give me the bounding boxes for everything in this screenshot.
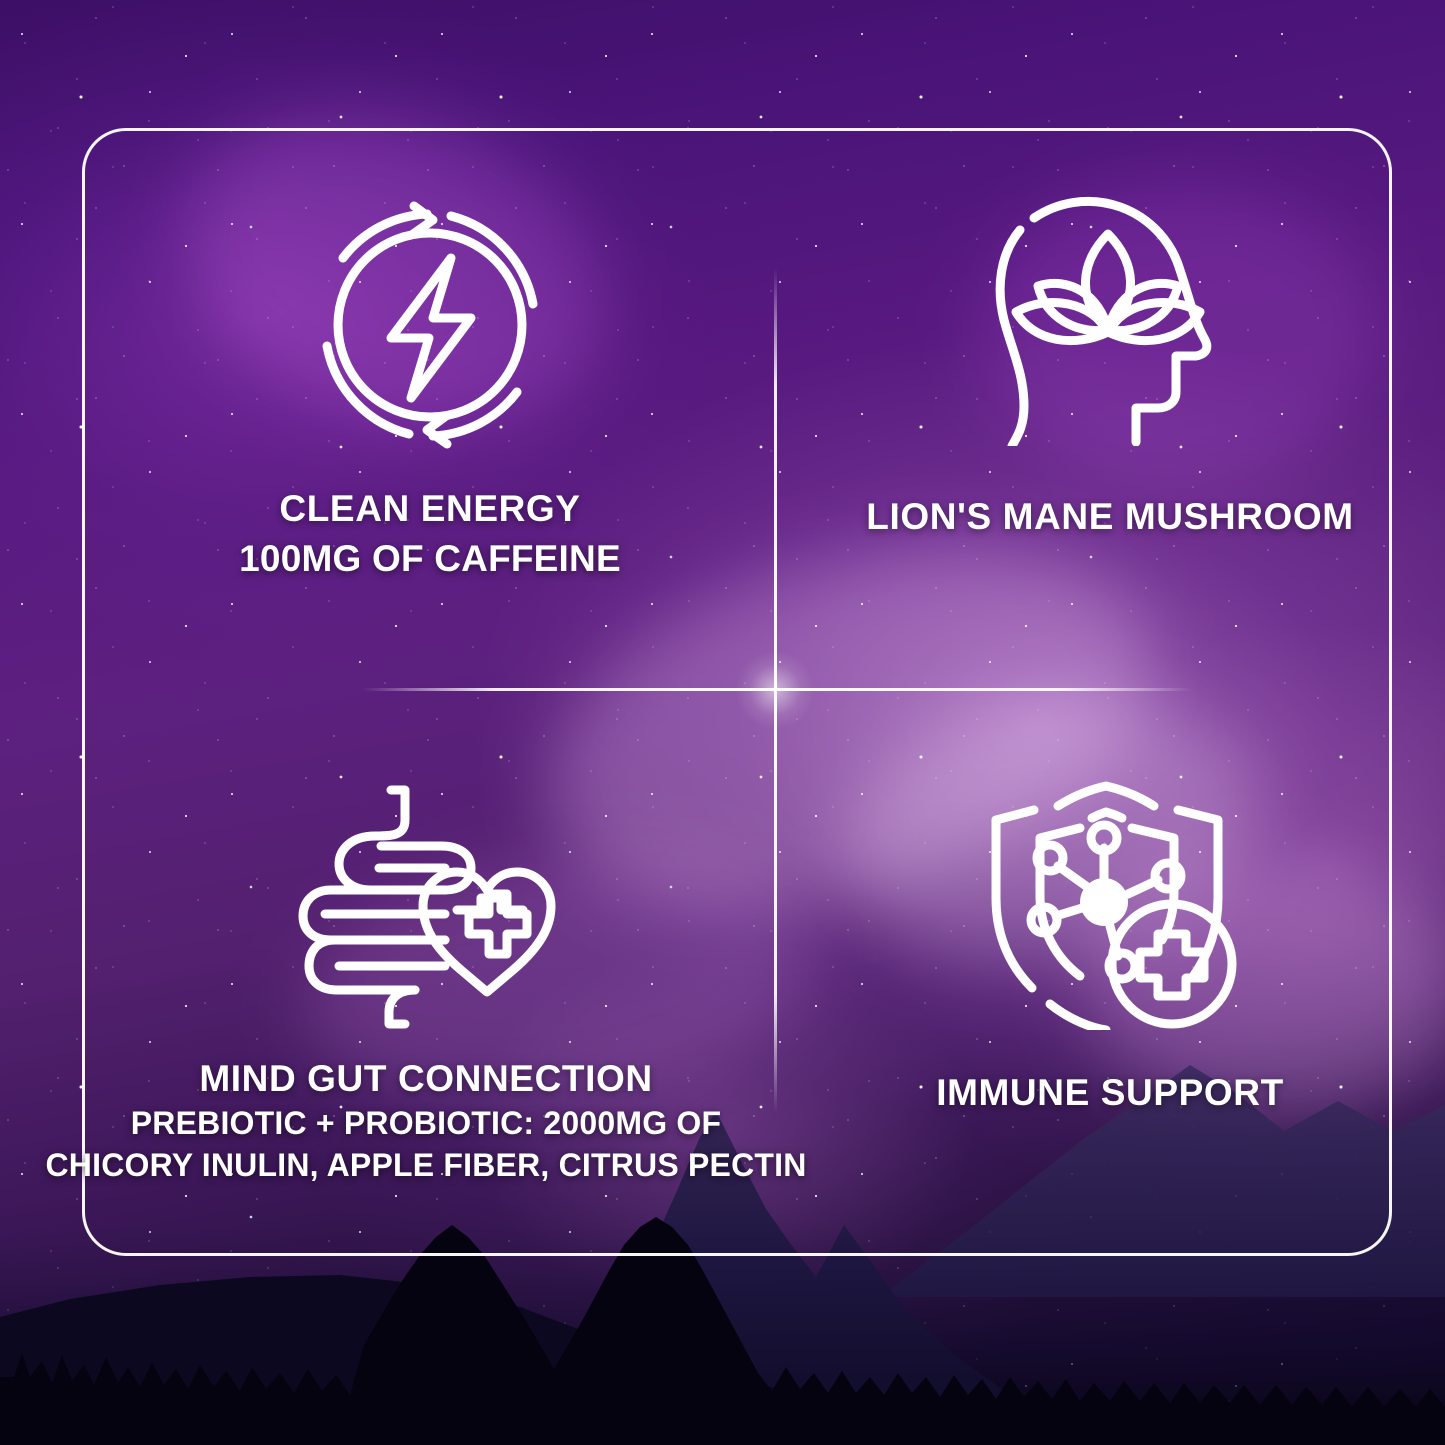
benefit-immune-support: IMMUNE SUPPORT bbox=[830, 780, 1390, 1114]
benefit-title: CLEAN ENERGY bbox=[239, 488, 621, 530]
head-lotus-mind-icon bbox=[990, 196, 1230, 446]
benefit-subtitle: 100MG OF CAFFEINE bbox=[239, 538, 621, 580]
gut-heart-plus-icon bbox=[295, 780, 557, 1032]
benefit-title: IMMUNE SUPPORT bbox=[936, 1072, 1284, 1114]
benefit-clean-energy: CLEAN ENERGY 100MG OF CAFFEINE bbox=[150, 196, 710, 580]
benefit-title: LION'S MANE MUSHROOM bbox=[866, 496, 1353, 538]
divider-vertical bbox=[774, 268, 777, 1112]
infographic-stage: CLEAN ENERGY 100MG OF CAFFEINE LION'S MA… bbox=[0, 0, 1445, 1445]
benefit-subtitle-line-1: PREBIOTIC + PROBIOTIC: 2000MG OF bbox=[45, 1105, 806, 1142]
benefit-text-block: LION'S MANE MUSHROOM bbox=[866, 446, 1353, 538]
benefit-text-block: MIND GUT CONNECTION PREBIOTIC + PROBIOTI… bbox=[45, 1032, 806, 1184]
benefit-lions-mane: LION'S MANE MUSHROOM bbox=[830, 196, 1390, 538]
benefit-mind-gut: MIND GUT CONNECTION PREBIOTIC + PROBIOTI… bbox=[96, 780, 756, 1184]
benefit-subtitle-line-2: CHICORY INULIN, APPLE FIBER, CITRUS PECT… bbox=[45, 1147, 806, 1184]
shield-molecule-plus-icon bbox=[982, 780, 1238, 1030]
energy-refresh-lightning-icon bbox=[305, 196, 555, 454]
benefit-text-block: CLEAN ENERGY 100MG OF CAFFEINE bbox=[239, 454, 621, 580]
benefit-text-block: IMMUNE SUPPORT bbox=[936, 1030, 1284, 1114]
divider-horizontal bbox=[362, 688, 1192, 691]
benefit-title: MIND GUT CONNECTION bbox=[45, 1058, 806, 1100]
